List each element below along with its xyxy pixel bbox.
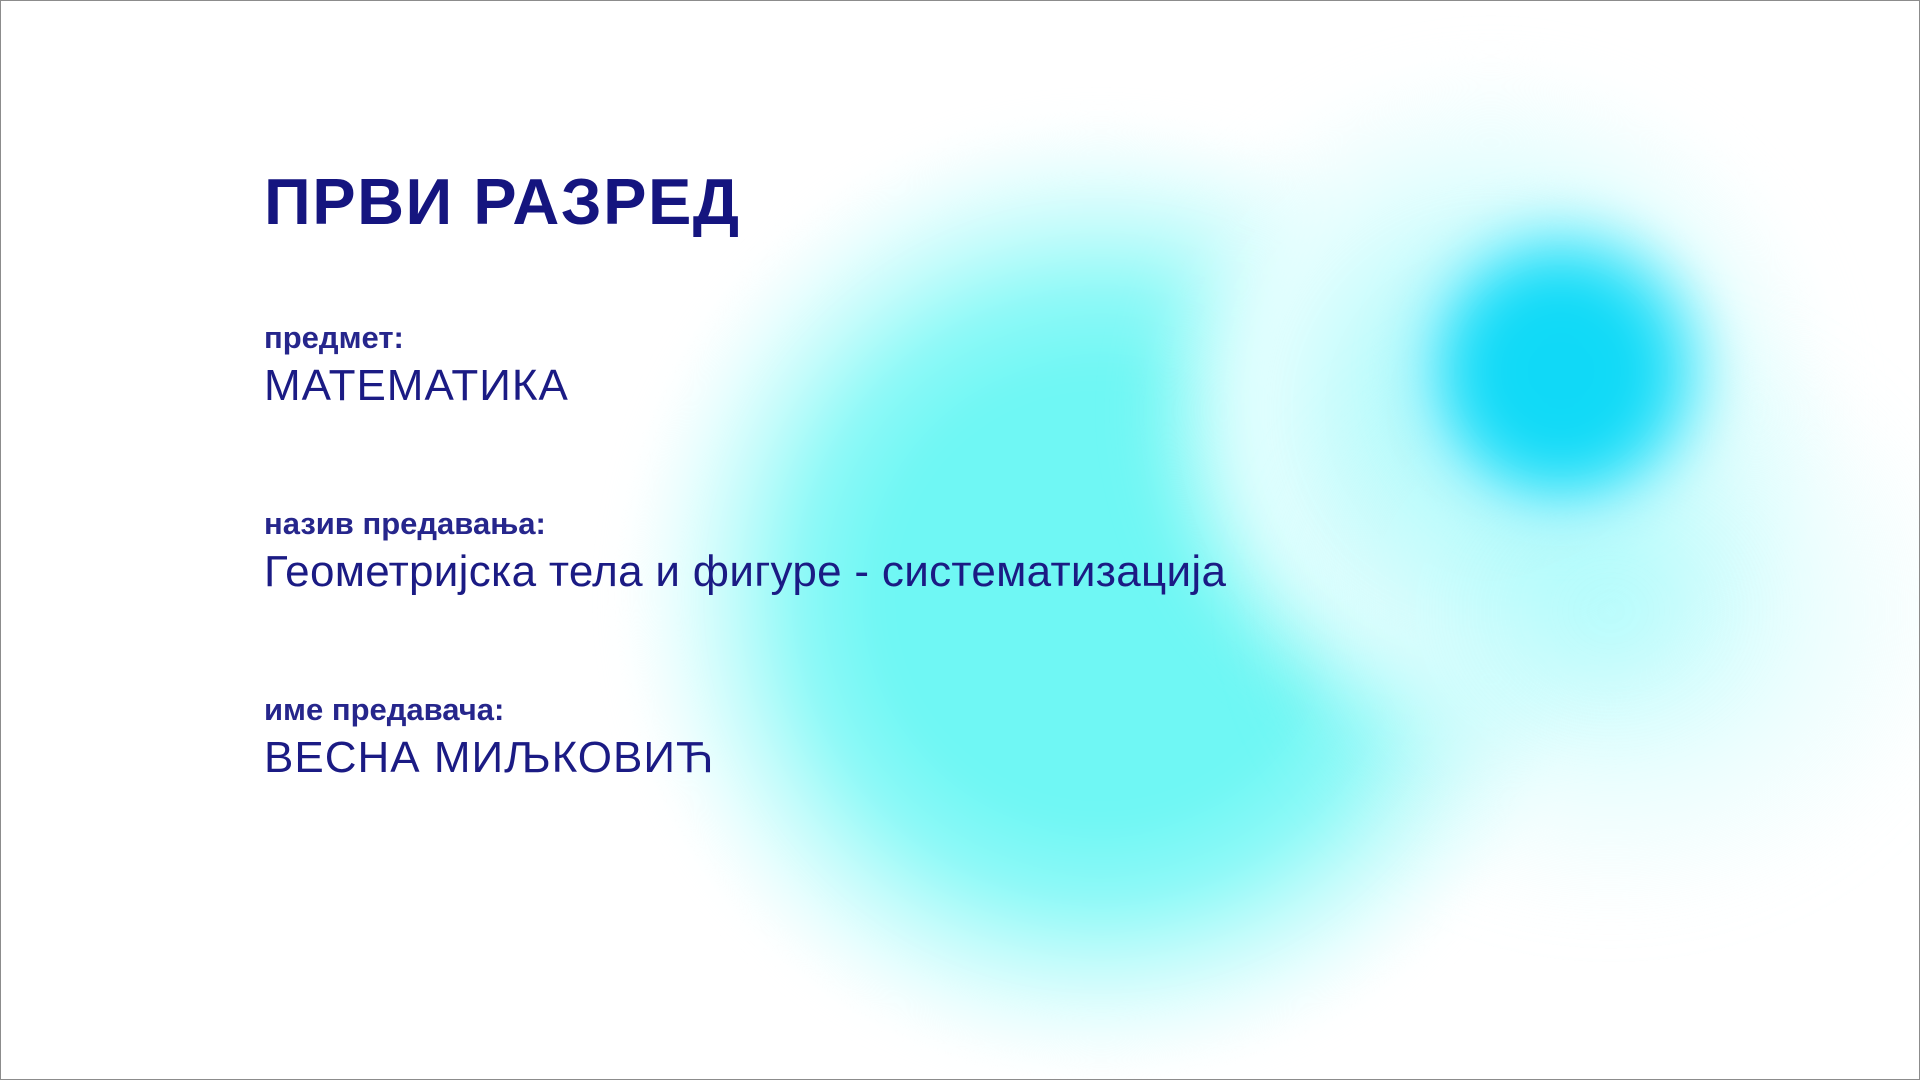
presenter-value: ВЕСНА МИЉКОВИЋ [264, 730, 715, 785]
lecture-title-field: назив предавања: Геометријска тела и фиг… [264, 505, 1226, 599]
presenter-label: име предавача: [264, 691, 715, 730]
subject-label: предмет: [264, 319, 569, 358]
title-slide: ПРВИ РАЗРЕД предмет: МАТЕМАТИКА назив пр… [0, 0, 1920, 1080]
subject-field: предмет: МАТЕМАТИКА [264, 319, 569, 413]
slide-content: ПРВИ РАЗРЕД предмет: МАТЕМАТИКА назив пр… [264, 1, 1664, 1079]
lecture-title-label: назив предавања: [264, 505, 1226, 544]
lecture-title-value: Геометријска тела и фигуре - систематиза… [264, 544, 1226, 599]
page-title: ПРВИ РАЗРЕД [264, 169, 741, 234]
presenter-field: име предавача: ВЕСНА МИЉКОВИЋ [264, 691, 715, 785]
subject-value: МАТЕМАТИКА [264, 358, 569, 413]
